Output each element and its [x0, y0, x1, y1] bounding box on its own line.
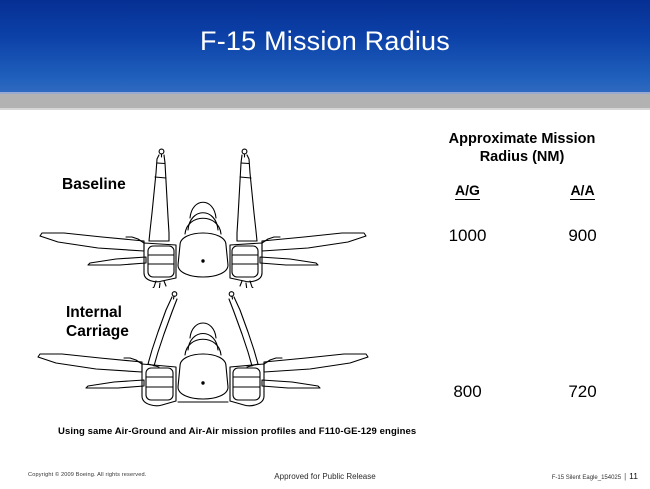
diagram-label-internal-carriage: Internal Carriage: [66, 303, 129, 341]
footer-separator: |: [624, 472, 626, 481]
footer-document-id: F-15 Silent Eagle_154025: [552, 475, 621, 481]
internal-aa-value: 720: [525, 382, 640, 402]
table-row: 800 720: [410, 382, 640, 402]
footer-page-number: 11: [629, 471, 638, 481]
table-heading-line1: Approximate Mission: [422, 130, 622, 148]
column-header-aa: A/A: [525, 182, 640, 198]
table-column-headers: A/G A/A: [410, 182, 640, 198]
baseline-ag-value: 1000: [410, 226, 525, 246]
table-heading-line2: Radius (NM): [422, 148, 622, 166]
gray-divider-band: [0, 94, 650, 108]
diagram-label-baseline: Baseline: [62, 175, 126, 194]
gray-divider-band-edge: [0, 108, 650, 110]
footer-document-id-group: F-15 Silent Eagle_154025 | 11: [552, 471, 638, 481]
table-row: 1000 900: [410, 226, 640, 246]
table-heading: Approximate Mission Radius (NM): [422, 130, 622, 166]
f15-baseline-front-view: [28, 133, 378, 293]
column-header-ag: A/G: [410, 182, 525, 198]
footnote: Using same Air-Ground and Air-Air missio…: [58, 426, 416, 437]
mission-radius-table: Approximate Mission Radius (NM) A/G A/A …: [410, 130, 640, 166]
column-header-ag-label: A/G: [455, 182, 480, 200]
page-title: F-15 Mission Radius: [0, 24, 650, 58]
column-header-aa-label: A/A: [570, 182, 594, 200]
baseline-aa-value: 900: [525, 226, 640, 246]
internal-ag-value: 800: [410, 382, 525, 402]
